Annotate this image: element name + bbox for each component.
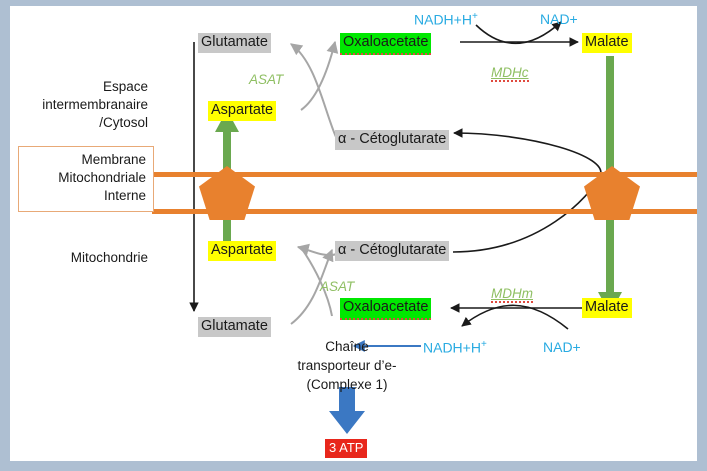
membrane-line-2: Mitochondriale bbox=[26, 169, 146, 187]
diagram-page: Espace intermembranaire /Cytosol Membran… bbox=[0, 0, 707, 471]
cofactor-nad-cytosol: NAD+ bbox=[540, 12, 578, 26]
metabolite-aspartate-cytosol: Aspartate bbox=[208, 101, 276, 121]
arrow-mdhm-nad-to-nadh bbox=[462, 305, 568, 329]
arrow-asat-top-ketoglutarate-to-glutamate bbox=[291, 44, 336, 137]
nad-matrix-text: NAD+ bbox=[543, 339, 581, 355]
nadh-matrix-charge: + bbox=[481, 339, 487, 350]
respiratory-chain-label: Chaîne transporteur d’e- (Complexe 1) bbox=[272, 338, 422, 395]
metabolite-malate-matrix: Malate bbox=[582, 298, 632, 318]
metabolite-oxaloacetate-cytosol: Oxaloacetate bbox=[340, 33, 431, 55]
metabolite-glutamate-cytosol: Glutamate bbox=[198, 33, 271, 53]
metabolite-oxaloacetate-matrix: Oxaloacetate bbox=[340, 298, 431, 320]
metabolite-malate-cytosol: Malate bbox=[582, 33, 632, 53]
cytosol-line-2: intermembranaire bbox=[10, 96, 148, 114]
diagram-canvas: Espace intermembranaire /Cytosol Membran… bbox=[10, 6, 697, 461]
cytosol-line-1: Espace bbox=[10, 78, 148, 96]
metabolite-ketoglutarate-matrix: α - Cétoglutarate bbox=[335, 241, 449, 261]
enzyme-asat-cytosol: ASAT bbox=[249, 73, 283, 87]
arrow-ketoglutarate-matrix-to-cytosol bbox=[453, 133, 601, 252]
compartment-label-mitochondria: Mitochondrie bbox=[10, 249, 148, 267]
compartment-label-cytosol: Espace intermembranaire /Cytosol bbox=[10, 78, 148, 133]
cofactor-nadh-cytosol: NADH+H+ bbox=[414, 12, 478, 27]
cytosol-line-3: /Cytosol bbox=[10, 114, 148, 132]
atp-yield-badge: 3 ATP bbox=[325, 439, 367, 458]
chain-line-1: Chaîne bbox=[272, 338, 422, 357]
nadh-matrix-text: NADH+H bbox=[423, 340, 481, 356]
arrow-asat-bottom-ketoglutarate-to-aspartate bbox=[298, 247, 337, 255]
compartment-label-inner-membrane: Membrane Mitochondriale Interne bbox=[18, 146, 154, 212]
cofactor-nadh-matrix: NADH+H+ bbox=[423, 340, 487, 355]
chain-line-2: transporteur d’e- bbox=[272, 357, 422, 376]
nadh-cytosol-text: NADH+H bbox=[414, 12, 472, 28]
nadh-cytosol-charge: + bbox=[472, 11, 478, 22]
nad-cytosol-text: NAD+ bbox=[540, 11, 578, 27]
membrane-line-3: Interne bbox=[26, 187, 146, 205]
chain-line-3: (Complexe 1) bbox=[272, 376, 422, 395]
enzyme-asat-matrix: ASAT bbox=[320, 280, 354, 294]
membrane-line-1: Membrane bbox=[26, 151, 146, 169]
enzyme-mdhc: MDHc bbox=[491, 66, 529, 82]
arrow-asat-top-aspartate-to-oxaloacetate bbox=[301, 42, 335, 110]
metabolite-ketoglutarate-cytosol: α - Cétoglutarate bbox=[335, 130, 449, 150]
cofactor-nad-matrix: NAD+ bbox=[543, 340, 581, 354]
metabolite-aspartate-matrix: Aspartate bbox=[208, 241, 276, 261]
enzyme-mdhm: MDHm bbox=[491, 287, 533, 303]
metabolite-glutamate-matrix: Glutamate bbox=[198, 317, 271, 337]
mitochondria-text: Mitochondrie bbox=[10, 249, 148, 267]
